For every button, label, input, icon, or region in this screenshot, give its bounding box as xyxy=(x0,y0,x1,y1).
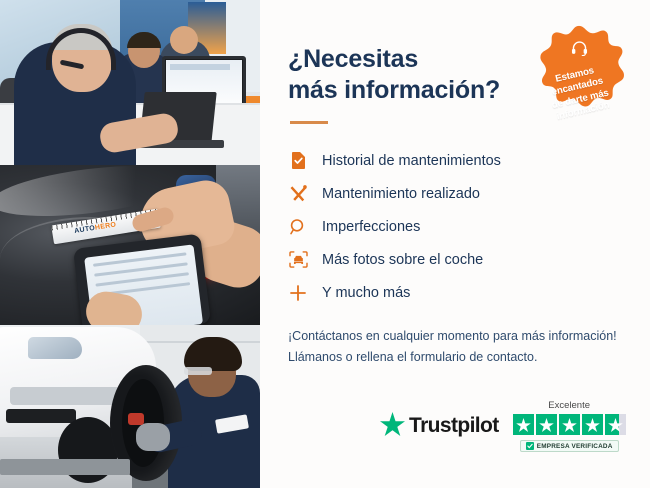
feature-label: Más fotos sobre el coche xyxy=(322,252,483,268)
vehicle-inspection-photo: AUTOHERO xyxy=(0,165,260,325)
rating-star-filled xyxy=(536,414,557,435)
page-title-line-2: más información? xyxy=(288,76,500,104)
feature-label: Y mucho más xyxy=(322,285,410,301)
trustpilot-rating-block: Excelente EMPRESA VERIFICADA xyxy=(513,400,626,452)
rating-star-filled xyxy=(582,414,603,435)
car-lift-arm xyxy=(0,459,130,475)
monitor-screen-toolbar xyxy=(170,64,230,70)
car-air-intake xyxy=(6,409,76,423)
trustpilot-star-icon xyxy=(380,412,405,441)
page-title: ¿Necesitas más información? xyxy=(288,44,528,105)
maintenance-history-icon xyxy=(288,151,308,171)
plus-icon xyxy=(288,283,308,303)
trustpilot-wordmark: Trustpilot xyxy=(409,414,499,438)
magnifier-icon xyxy=(288,217,308,237)
verified-check-icon xyxy=(526,442,534,450)
content-panel: ¿Necesitas más información? Historial de… xyxy=(260,0,650,488)
headset-icon xyxy=(571,40,588,61)
feature-label: Mantenimiento realizado xyxy=(322,186,480,202)
feature-item-more-photos: Más fotos sobre el coche xyxy=(288,243,628,276)
feature-item-much-more: Y mucho más xyxy=(288,276,628,309)
contact-line-2: Llámanos o rellena el formulario de cont… xyxy=(288,350,537,364)
car-headlight xyxy=(28,337,82,359)
trustpilot-star-rating xyxy=(513,414,626,435)
feature-item-maintenance-history: Historial de mantenimientos xyxy=(288,144,628,177)
mechanic-safety-glasses xyxy=(184,367,212,375)
mechanic-glove xyxy=(136,423,170,451)
car-lower-grille xyxy=(10,387,120,405)
contact-line-1: ¡Contáctanos en cualquier momento para m… xyxy=(288,329,617,343)
mechanic-tool xyxy=(128,413,144,425)
tools-wrench-screwdriver-icon xyxy=(288,184,308,204)
trustpilot-logo[interactable]: Trustpilot xyxy=(380,412,499,441)
feature-label: Historial de mantenimientos xyxy=(322,153,501,169)
call-center-agents-photo xyxy=(0,0,260,165)
mechanic-wheel-photo xyxy=(0,325,260,488)
feature-list: Historial de mantenimientos Mantenimient… xyxy=(288,144,628,309)
photo-column: AUTOHERO xyxy=(0,0,260,488)
trustpilot-widget[interactable]: Trustpilot Excelente EMPRESA VERIFICADA xyxy=(380,400,626,452)
feature-item-imperfections: Imperfecciones xyxy=(288,210,628,243)
trustpilot-rating-label: Excelente xyxy=(548,400,590,411)
contact-info-banner: AUTOHERO xyxy=(0,0,650,488)
verified-company-badge: EMPRESA VERIFICADA xyxy=(520,440,619,452)
rating-star-filled xyxy=(513,414,534,435)
mechanic-hair xyxy=(184,337,242,371)
car-photo-frame-icon xyxy=(288,250,308,270)
rating-star-filled xyxy=(559,414,580,435)
page-title-line-1: ¿Necesitas xyxy=(288,45,418,73)
verified-company-label: EMPRESA VERIFICADA xyxy=(537,443,613,450)
contact-paragraph: ¡Contáctanos en cualquier momento para m… xyxy=(288,326,628,367)
feature-label: Imperfecciones xyxy=(322,219,420,235)
feature-item-maintenance-done: Mantenimiento realizado xyxy=(288,177,628,210)
background-colleague-two-head xyxy=(170,26,198,54)
info-badge: Estamos encantados de darte más informac… xyxy=(524,24,634,134)
rating-star-partial xyxy=(605,414,626,435)
title-underline-divider xyxy=(290,121,328,124)
